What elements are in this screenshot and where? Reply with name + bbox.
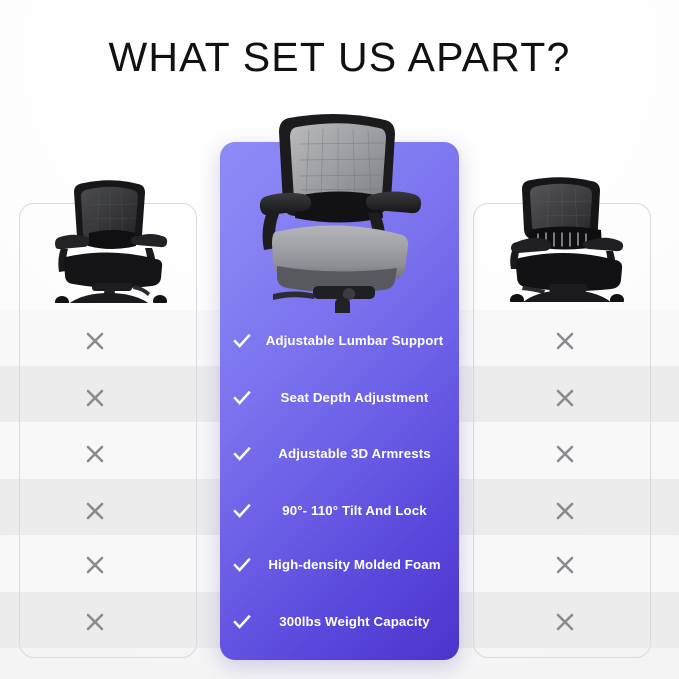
competitor-right-chair-image [505, 172, 629, 307]
cross-icon-glyph [552, 552, 578, 578]
cross-icon [82, 441, 108, 467]
comparison-infographic: WHAT SET US APART? [0, 0, 679, 679]
check-icon-glyph [232, 444, 252, 464]
check-icon [220, 388, 264, 408]
check-icon-glyph [232, 612, 252, 632]
feature-label: Adjustable Lumbar Support [264, 333, 459, 349]
cross-icon-glyph [552, 328, 578, 354]
cross-icon [82, 328, 108, 354]
cross-icon [552, 385, 578, 411]
check-icon [220, 501, 264, 521]
check-icon [220, 555, 264, 575]
cross-icon-glyph [82, 498, 108, 524]
feature-row: Adjustable 3D Armrests [220, 439, 459, 469]
our-product-chair-image [253, 108, 428, 318]
feature-label: Seat Depth Adjustment [264, 390, 459, 406]
cross-icon [82, 552, 108, 578]
cross-icon-glyph [82, 609, 108, 635]
feature-label: Adjustable 3D Armrests [264, 446, 459, 462]
cross-icon [552, 328, 578, 354]
feature-row: Adjustable Lumbar Support [220, 326, 459, 356]
check-icon [220, 444, 264, 464]
check-icon [220, 331, 264, 351]
check-icon-glyph [232, 331, 252, 351]
feature-row: 90°- 110° Tilt And Lock [220, 496, 459, 526]
cross-icon-glyph [552, 609, 578, 635]
cross-icon [552, 552, 578, 578]
page-title: WHAT SET US APART? [0, 31, 679, 83]
feature-row: High-density Molded Foam [220, 550, 459, 580]
feature-label: 300lbs Weight Capacity [264, 614, 459, 630]
cross-icon-glyph [552, 385, 578, 411]
cross-icon [82, 385, 108, 411]
cross-icon-glyph [82, 441, 108, 467]
competitor-left-chair-image [52, 175, 170, 308]
check-icon-glyph [232, 555, 252, 575]
cross-icon [82, 498, 108, 524]
check-icon-glyph [232, 388, 252, 408]
feature-label: 90°- 110° Tilt And Lock [264, 503, 459, 519]
cross-icon-glyph [552, 441, 578, 467]
check-icon [220, 612, 264, 632]
feature-row: 300lbs Weight Capacity [220, 607, 459, 637]
cross-icon-glyph [82, 552, 108, 578]
cross-icon [552, 441, 578, 467]
cross-icon [82, 609, 108, 635]
cross-icon-glyph [552, 498, 578, 524]
check-icon-glyph [232, 501, 252, 521]
feature-row: Seat Depth Adjustment [220, 383, 459, 413]
cross-icon [552, 498, 578, 524]
cross-icon [552, 609, 578, 635]
feature-label: High-density Molded Foam [264, 557, 459, 573]
cross-icon-glyph [82, 328, 108, 354]
cross-icon-glyph [82, 385, 108, 411]
